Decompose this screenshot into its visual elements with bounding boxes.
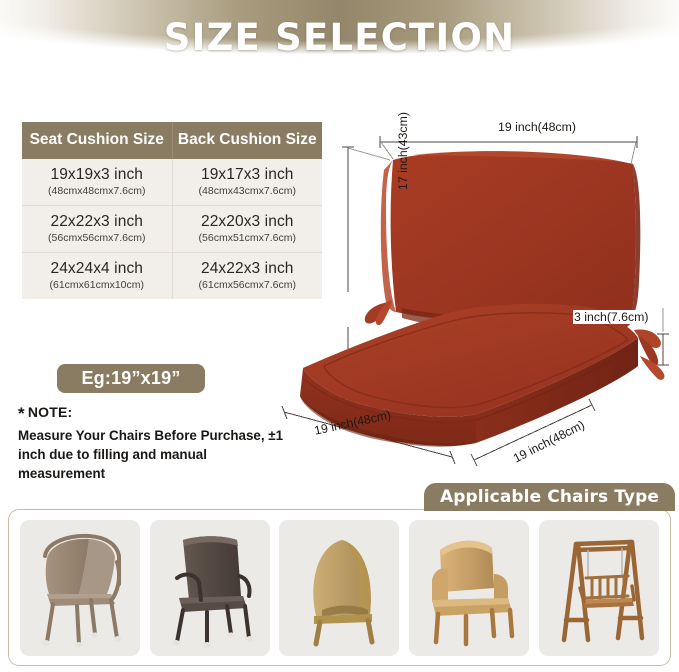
example-size-badge: Eg:19”x19” bbox=[57, 364, 205, 393]
chair-thumbnail-wooden-porch-swing-bench bbox=[539, 520, 659, 656]
note-block: *NOTE: Measure Your Chairs Before Purcha… bbox=[18, 404, 286, 483]
seat-size-cell: 24x24x4 inch (61cmx61cmx10cm) bbox=[22, 253, 172, 300]
seat-size-inch: 19x19x3 inch bbox=[25, 166, 169, 184]
seat-size-cm: (61cmx61cmx10cm) bbox=[25, 279, 169, 291]
seat-size-inch: 22x22x3 inch bbox=[25, 213, 169, 231]
seat-size-cm: (56cmx56cmx7.6cm) bbox=[25, 232, 169, 244]
chair-thumbnail-natural-wicker-dining-armchair bbox=[409, 520, 529, 656]
chair-thumbnail-round-back-wicker-stacking-chair bbox=[20, 520, 140, 656]
pillow-tie-strap bbox=[365, 300, 392, 325]
note-heading: *NOTE: bbox=[18, 404, 286, 424]
seat-size-cell: 22x22x3 inch (56cmx56cmx7.6cm) bbox=[22, 206, 172, 253]
cushion-diagram bbox=[262, 112, 679, 474]
seat-size-cm: (48cmx48cmx7.6cm) bbox=[25, 185, 169, 197]
header-banner: SIZE SELECTION bbox=[0, 0, 679, 78]
page-title: SIZE SELECTION bbox=[0, 16, 679, 59]
dimension-label-back-height: 17 inch(43cm) bbox=[396, 112, 410, 190]
chair-thumbnail-barrel-wicker-tub-chair bbox=[279, 520, 399, 656]
seat-size-inch: 24x24x4 inch bbox=[25, 260, 169, 278]
applicable-chairs-panel bbox=[8, 509, 671, 666]
seat-size-cell: 19x19x3 inch (48cmx48cmx7.6cm) bbox=[22, 159, 172, 206]
applicable-chairs-tab: Applicable Chairs Type bbox=[424, 483, 675, 511]
seat-tie-strap bbox=[634, 329, 664, 379]
asterisk-icon: * bbox=[18, 404, 25, 423]
column-header-seat-cushion-size: Seat Cushion Size bbox=[22, 122, 172, 159]
note-body: Measure Your Chairs Before Purchase, ±1 … bbox=[18, 426, 286, 483]
note-heading-label: NOTE: bbox=[28, 404, 73, 420]
chair-thumbnail-high-back-dark-rattan-armchair bbox=[150, 520, 270, 656]
dimension-label-thickness: 3 inch(7.6cm) bbox=[573, 310, 650, 324]
dimension-label-back-width: 19 inch(48cm) bbox=[498, 120, 576, 134]
